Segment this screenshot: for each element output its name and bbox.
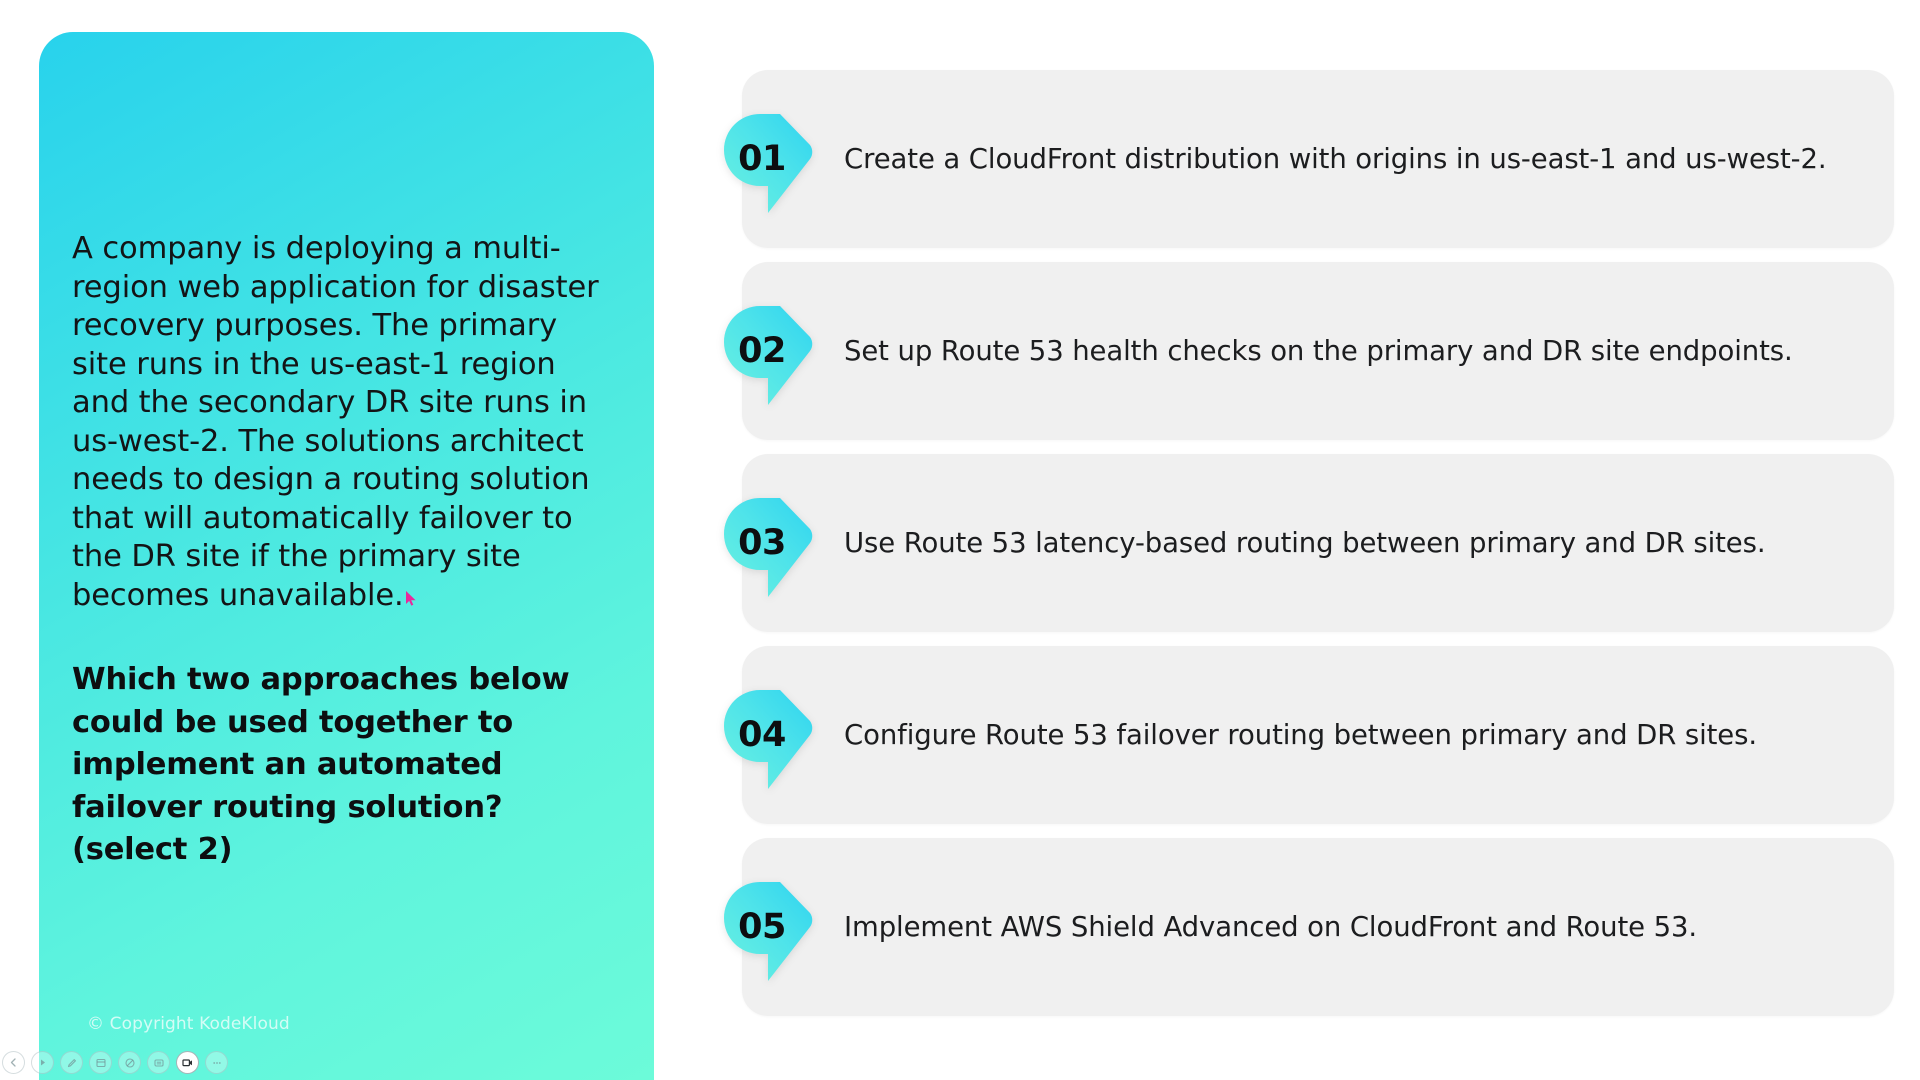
scenario-paragraph: A company is deploying a multi-region we… [72, 231, 599, 613]
laser-pointer-icon [124, 1057, 136, 1069]
option-text: Configure Route 53 failover routing betw… [844, 717, 1848, 753]
option-row[interactable]: 03 Use Route 53 latency-based routing be… [722, 454, 1894, 632]
option-number: 01 [738, 139, 786, 179]
option-number: 04 [738, 715, 786, 755]
more-options-button[interactable] [205, 1051, 228, 1074]
option-badge: 01 [722, 100, 814, 218]
option-badge: 02 [722, 292, 814, 410]
question-prompt-text: Which two approaches below could be used… [72, 659, 572, 872]
slide-panel-icon [95, 1057, 107, 1069]
video-camera-icon [181, 1056, 194, 1069]
option-text: Set up Route 53 health checks on the pri… [844, 333, 1848, 369]
question-panel: A company is deploying a multi-region we… [39, 32, 654, 1080]
play-icon [37, 1057, 48, 1068]
ellipsis-icon [211, 1057, 223, 1069]
slide-panel-button[interactable] [89, 1051, 112, 1074]
chevron-left-icon [8, 1057, 19, 1068]
option-row[interactable]: 02 Set up Route 53 health checks on the … [722, 262, 1894, 440]
pen-button[interactable] [60, 1051, 83, 1074]
presentation-slide: A company is deploying a multi-region we… [0, 0, 1920, 1080]
option-text: Implement AWS Shield Advanced on CloudFr… [844, 909, 1848, 945]
option-text: Create a CloudFront distribution with or… [844, 141, 1848, 177]
notes-icon [153, 1057, 165, 1069]
option-row[interactable]: 04 Configure Route 53 failover routing b… [722, 646, 1894, 824]
option-row[interactable]: 05 Implement AWS Shield Advanced on Clou… [722, 838, 1894, 1016]
notes-button[interactable] [147, 1051, 170, 1074]
option-badge: 04 [722, 676, 814, 794]
record-button[interactable] [176, 1051, 199, 1074]
option-badge: 05 [722, 868, 814, 986]
play-button[interactable] [31, 1051, 54, 1074]
option-text: Use Route 53 latency-based routing betwe… [844, 525, 1848, 561]
option-row[interactable]: 01 Create a CloudFront distribution with… [722, 70, 1894, 248]
copyright-notice: © Copyright KodeKloud [87, 1014, 290, 1034]
mouse-cursor-icon [405, 591, 417, 607]
laser-pointer-button[interactable] [118, 1051, 141, 1074]
question-content: A company is deploying a multi-region we… [72, 230, 617, 872]
previous-slide-button[interactable] [2, 1051, 25, 1074]
option-number: 05 [738, 907, 786, 947]
pen-icon [66, 1057, 78, 1069]
option-number: 02 [738, 331, 786, 371]
answer-options-list: 01 Create a CloudFront distribution with… [722, 70, 1894, 1030]
question-scenario-text: A company is deploying a multi-region we… [72, 230, 617, 615]
option-badge: 03 [722, 484, 814, 602]
option-number: 03 [738, 523, 786, 563]
presentation-toolbar [2, 1051, 228, 1074]
